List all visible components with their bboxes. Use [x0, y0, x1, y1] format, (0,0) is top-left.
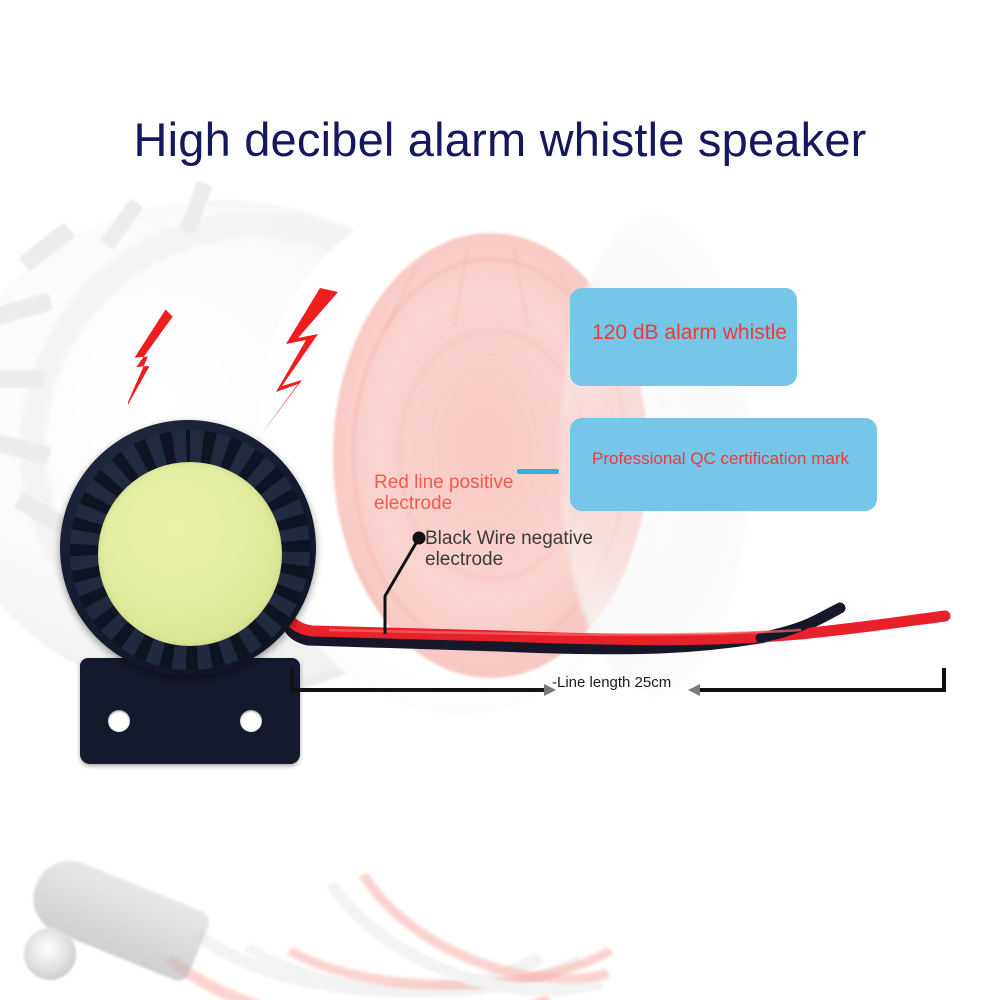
red-wire-pointer-line [517, 469, 559, 474]
callout-qc-label: Professional QC certification mark [592, 449, 849, 469]
product-infographic: High decibel alarm whistle speaker [0, 0, 1000, 1000]
callout-120db[interactable]: 120 dB alarm whistle [570, 288, 797, 386]
callout-qc-certification[interactable]: Professional QC certification mark [570, 418, 877, 511]
red-wire-annotation: Red line positive electrode [374, 472, 513, 515]
black-wire-annotation: Black Wire negative electrode [425, 528, 593, 571]
line-length-annotation: -Line length 25cm [552, 675, 671, 692]
dimension-arrow-right [688, 684, 700, 696]
callout-120db-label: 120 dB alarm whistle [592, 321, 787, 345]
